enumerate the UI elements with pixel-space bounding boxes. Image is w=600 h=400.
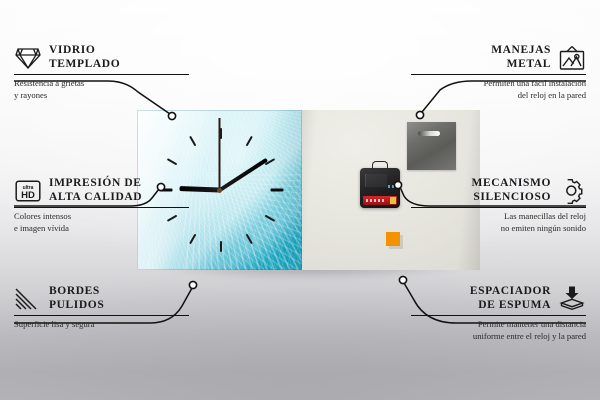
callout-desc-line1: Colores intensos [14, 211, 189, 223]
mechanism-hanging-loop [372, 161, 388, 170]
callout-title-line1: IMPRESIÓN DE [49, 177, 142, 191]
gear-icon [558, 178, 586, 204]
foam-spacer-icon [558, 285, 586, 312]
callout-foam-spacer: ESPACIADOR DE ESPUMA Permite mantener un… [411, 285, 586, 342]
battery-positive-tip [390, 197, 396, 204]
callout-rule [411, 207, 586, 208]
callout-desc-line1: Superficie lisa y segura [14, 319, 189, 331]
callout-rule [411, 74, 586, 75]
clock-tick-1 [189, 234, 196, 245]
callout-high-quality-print: ultra HD IMPRESIÓN DE ALTA CALIDAD Color… [14, 177, 189, 234]
clock-center-cap [217, 188, 222, 193]
ultra-hd-icon-bottom-text: HD [21, 190, 35, 201]
callout-title-line1: MECANISMO [411, 177, 551, 191]
callout-metal-hooks: MANEJAS METAL Permiten una fácil instala… [411, 44, 586, 101]
callout-desc-line2: y rayones [14, 90, 189, 102]
clock-minute-hand [218, 158, 267, 192]
clock-tick-4 [166, 158, 177, 165]
clock-tick-11 [245, 234, 252, 245]
callout-rule [14, 74, 189, 75]
callout-desc-line2: del reloj en la pared [411, 90, 586, 102]
mechanism-label-dots [388, 185, 397, 188]
battery-label [366, 199, 386, 202]
callout-tempered-glass: VIDRIO TEMPLADO Resistencia a grietas y … [14, 44, 189, 101]
callout-title-line2: ALTA CALIDAD [49, 191, 142, 205]
callout-silent-mechanism: MECANISMO SILENCIOSO Las manecillas del … [411, 177, 586, 234]
picture-frame-icon [558, 45, 586, 71]
callout-title-line1: VIDRIO [49, 44, 120, 58]
clock-mechanism [360, 168, 400, 208]
callout-desc-line1: Resistencia a grietas [14, 78, 189, 90]
callout-desc-line1: Las manecillas del reloj [411, 211, 586, 223]
callout-title-line2: SILENCIOSO [411, 191, 551, 205]
callout-desc-line2: uniforme entre el reloj y la pared [411, 331, 586, 343]
clock-tick-12 [220, 241, 222, 252]
callout-desc-line1: Permiten una fácil instalación [411, 78, 586, 90]
hanger-slot [418, 131, 440, 136]
callout-title-line2: PULIDOS [49, 299, 104, 313]
callout-polished-edges: BORDES PULIDOS Superficie lisa y segura [14, 285, 189, 331]
clock-tick-7 [245, 136, 252, 147]
mechanism-housing-detail [365, 174, 387, 187]
callout-rule [14, 207, 189, 208]
foam-spacer [386, 232, 400, 246]
callout-title-line2: DE ESPUMA [411, 299, 551, 313]
callout-rule [411, 315, 586, 316]
callout-title-line1: BORDES [49, 285, 104, 299]
callout-title-line2: TEMPLADO [49, 58, 120, 72]
clock-tick-5 [189, 136, 196, 147]
callout-title-line1: ESPACIADOR [411, 285, 551, 299]
callout-title-line1: MANEJAS [411, 44, 551, 58]
aa-battery [363, 196, 397, 205]
callout-title-line2: METAL [411, 58, 551, 72]
clock-tick-9 [270, 189, 283, 192]
callout-desc-line2: no emiten ningún sonido [411, 223, 586, 235]
callout-desc-line1: Permite mantener una distancia [411, 319, 586, 331]
clock-tick-10 [264, 215, 275, 222]
clock-second-hand [219, 118, 221, 188]
callout-desc-line2: e imagen vívida [14, 223, 189, 235]
ultra-hd-icon: ultra HD [14, 179, 42, 203]
metal-hanger-icon [407, 122, 456, 170]
polished-edges-icon [14, 287, 42, 311]
callout-rule [14, 315, 189, 316]
diamond-icon [14, 45, 42, 71]
